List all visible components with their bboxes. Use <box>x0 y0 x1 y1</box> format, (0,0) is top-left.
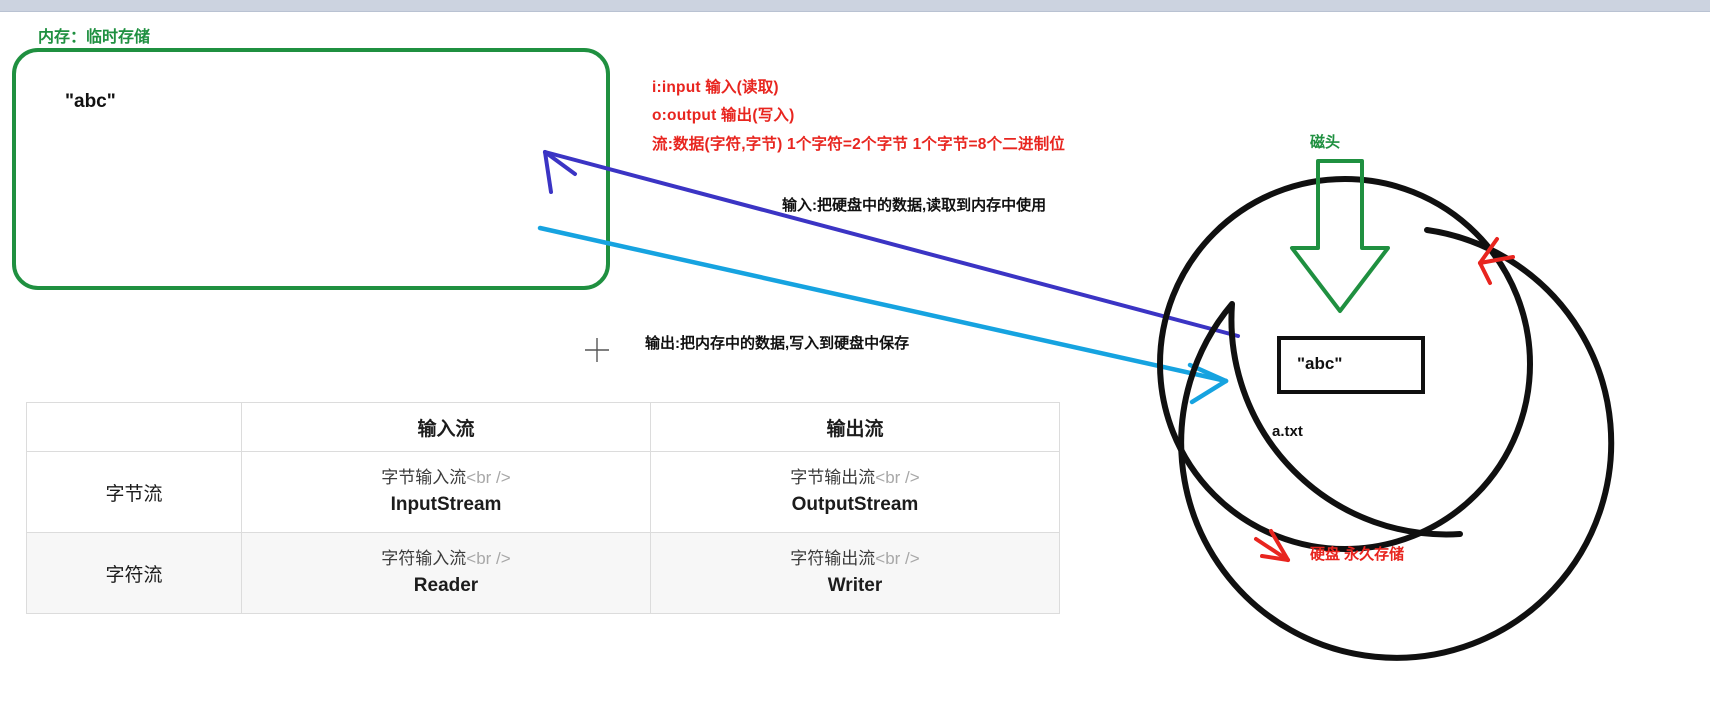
legend-line-stream: 流:数据(字符,字节) 1个字符=2个字节 1个字节=8个二进制位 <box>652 132 1065 154</box>
stream-class-name: Writer <box>651 572 1059 600</box>
stream-name-cn: 字节输入流<br /> <box>242 466 650 491</box>
table-body: 字节流字节输入流<br />InputStream字节输出流<br />Outp… <box>27 452 1060 614</box>
memory-title: 内存：临时存储 <box>38 23 150 47</box>
table-cell-output-stream: 字节输出流<br />OutputStream <box>651 452 1060 533</box>
table-cell-input-stream: 字节输入流<br />InputStream <box>242 452 651 533</box>
disk-outer-ring <box>1181 230 1611 658</box>
literal-br-tag: <br /> <box>466 549 510 568</box>
disk-file-name: a.txt <box>1272 423 1303 440</box>
table-header-input-stream: 输入流 <box>242 403 651 452</box>
crosshair-icon <box>584 337 610 363</box>
literal-br-tag: <br /> <box>875 549 919 568</box>
memory-box <box>12 48 610 290</box>
stream-class-name: InputStream <box>242 491 650 519</box>
table-row-label: 字符流 <box>27 533 242 614</box>
rotation-arrow-bottom <box>1256 531 1288 560</box>
literal-br-tag: <br /> <box>466 468 510 487</box>
legend-line-input: i:input 输入(读取) <box>652 75 779 97</box>
stream-name-cn: 字符输出流<br /> <box>651 547 1059 572</box>
output-arrow <box>540 228 1226 402</box>
input-arrow <box>545 152 1238 336</box>
table-row: 字符流字符输入流<br />Reader字符输出流<br />Writer <box>27 533 1060 614</box>
table-header-output-stream: 输出流 <box>651 403 1060 452</box>
input-flow-note: 输入:把硬盘中的数据,读取到内存中使用 <box>782 194 1046 215</box>
stream-class-name: OutputStream <box>651 491 1059 519</box>
stream-types-table: 输入流 输出流 字节流字节输入流<br />InputStream字节输出流<b… <box>26 402 1060 614</box>
stream-name-cn: 字节输出流<br /> <box>651 466 1059 491</box>
table-row: 字节流字节输入流<br />InputStream字节输出流<br />Outp… <box>27 452 1060 533</box>
table-cell-input-stream: 字符输入流<br />Reader <box>242 533 651 614</box>
read-head-arrow <box>1292 161 1388 311</box>
stream-class-name: Reader <box>242 572 650 600</box>
rotation-arrow-top <box>1480 239 1513 283</box>
stream-name-cn: 字符输入流<br /> <box>242 547 650 572</box>
memory-value: "abc" <box>65 91 116 113</box>
table-row-label: 字节流 <box>27 452 242 533</box>
table-header-row: 输入流 输出流 <box>27 403 1060 452</box>
table-header-corner <box>27 403 242 452</box>
table-cell-output-stream: 字符输出流<br />Writer <box>651 533 1060 614</box>
diagram-canvas: 内存：临时存储 "abc" i:input 输入(读取) o:output 输出… <box>0 11 1710 716</box>
literal-br-tag: <br /> <box>875 468 919 487</box>
disk-file-value: "abc" <box>1297 354 1342 374</box>
disk-head-label: 磁头 <box>1310 131 1340 152</box>
disk-storage-label: 硬盘 永久存储 <box>1310 543 1404 564</box>
legend-line-output: o:output 输出(写入) <box>652 103 794 125</box>
output-flow-note: 输出:把内存中的数据,写入到硬盘中保存 <box>645 332 909 353</box>
